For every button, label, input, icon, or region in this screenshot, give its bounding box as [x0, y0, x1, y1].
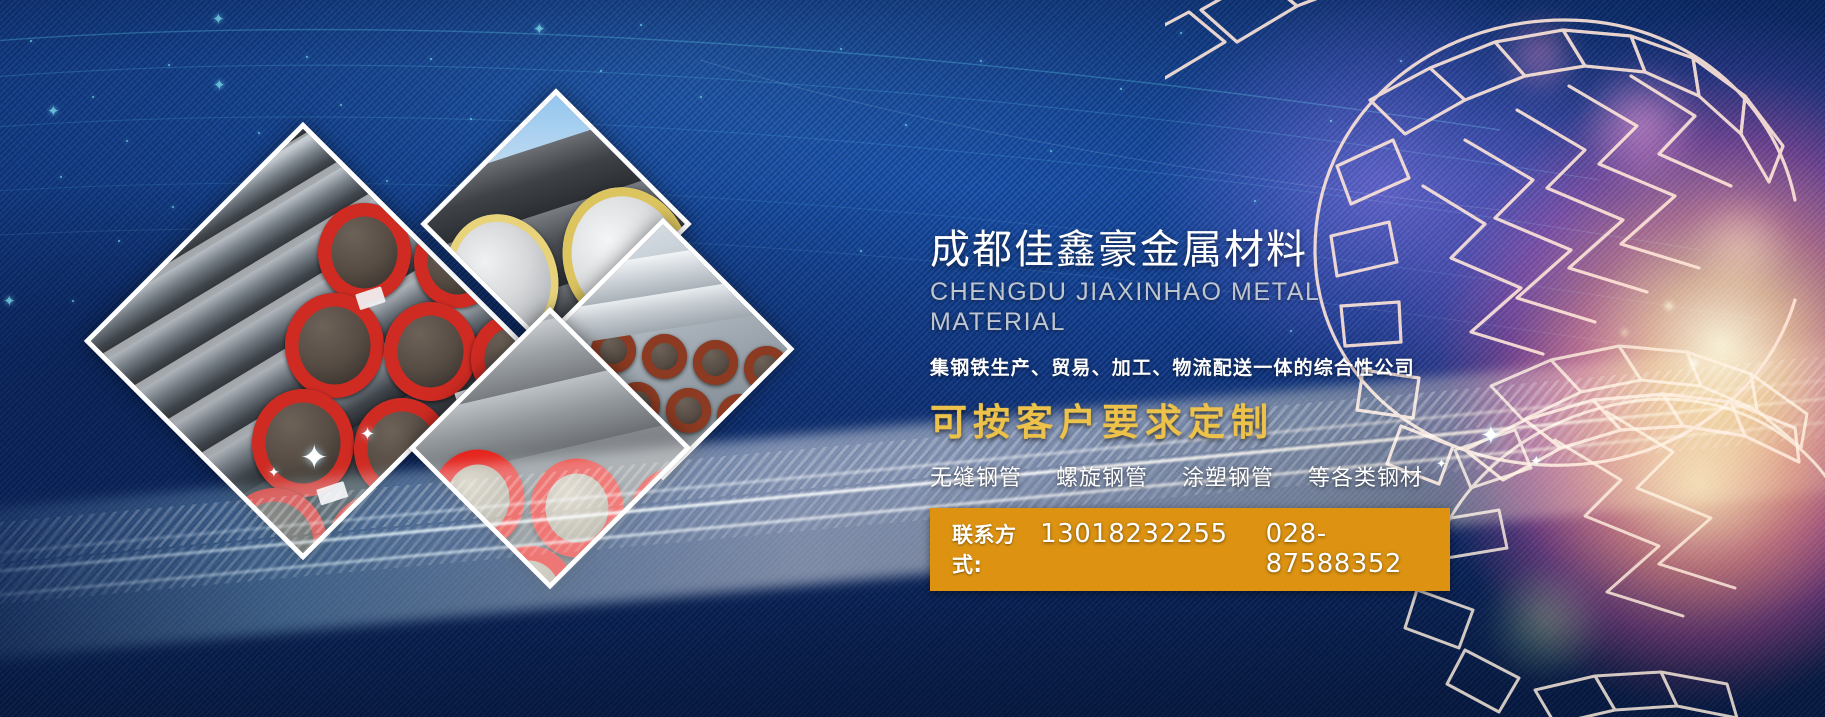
product-item-others: 等各类钢材 — [1308, 460, 1423, 492]
custom-order-headline: 可按客户要求定制 — [930, 392, 1450, 446]
contact-bar[interactable]: 联系方式: 13018232255 028-87588352 — [930, 508, 1450, 591]
promotional-banner: ✦ ✦ ✦ ✦ ✦ ✦ 成都佳鑫豪金属材料 CHENGDU JIAXINHAO … — [0, 0, 1825, 717]
spark — [1687, 356, 1701, 370]
company-name-chinese: 成都佳鑫豪金属材料 — [930, 228, 1450, 273]
product-item-spiral: 螺旋钢管 — [1056, 460, 1148, 492]
company-name-english: CHENGDU JIAXINHAO METAL MATERIAL — [930, 277, 1450, 337]
contact-label: 联系方式: — [952, 519, 1030, 579]
contact-mobile-number[interactable]: 13018232255 — [1040, 519, 1227, 549]
spark — [1620, 328, 1629, 337]
product-photo-collage — [120, 90, 820, 610]
company-tagline: 集钢铁生产、贸易、加工、物流配送一体的综合性公司 — [930, 353, 1450, 380]
spark — [1663, 300, 1675, 312]
product-item-seamless: 无缝钢管 — [930, 460, 1022, 492]
contact-landline-number[interactable]: 028-87588352 — [1266, 519, 1428, 579]
product-category-list: 无缝钢管 螺旋钢管 涂塑钢管 等各类钢材 — [930, 460, 1450, 492]
product-item-plastic-coated: 涂塑钢管 — [1182, 460, 1274, 492]
banner-text-block: 成都佳鑫豪金属材料 CHENGDU JIAXINHAO METAL MATERI… — [930, 228, 1450, 591]
robot-hand-outline-secondary-icon — [1395, 330, 1825, 717]
